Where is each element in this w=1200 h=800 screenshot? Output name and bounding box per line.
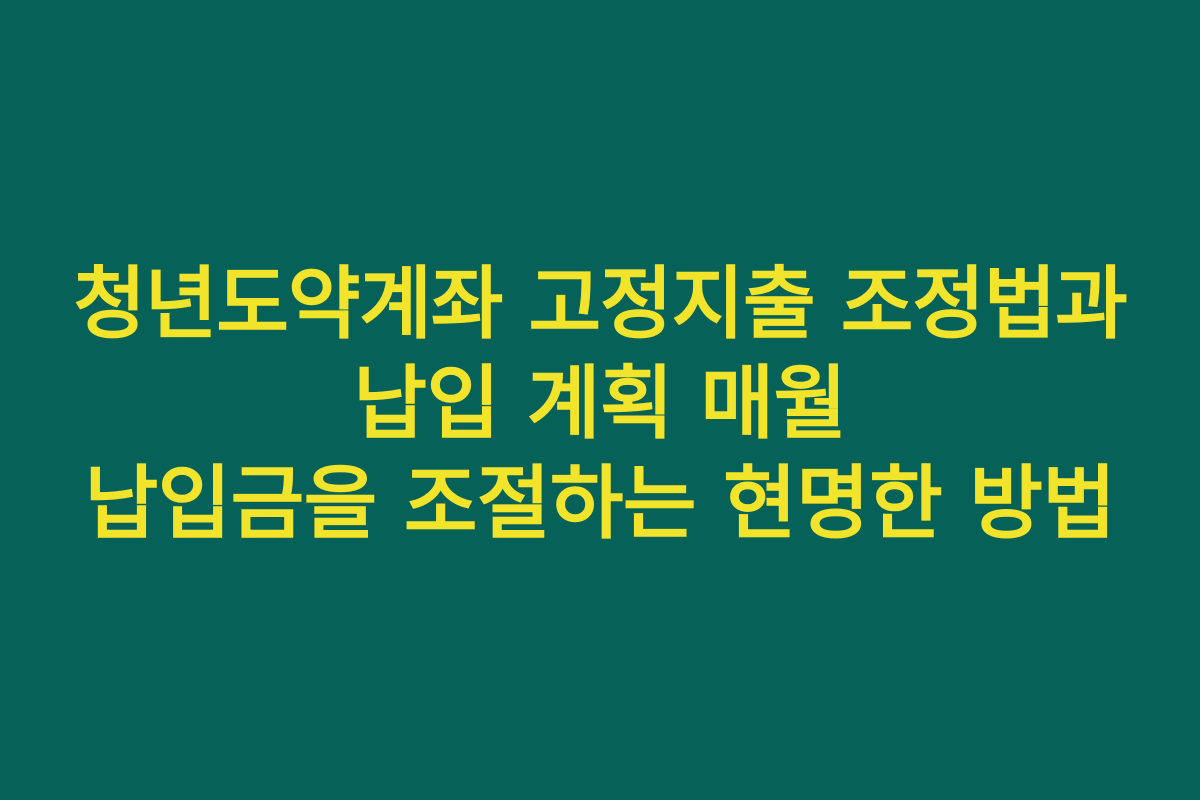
title-line-2: 납입 계획 매월 bbox=[20, 354, 1180, 454]
thumbnail-banner: 청년도약계좌 고정지출 조정법과 납입 계획 매월 납입금을 조절하는 현명한 … bbox=[0, 0, 1200, 800]
title-line-3: 납입금을 조절하는 현명한 방법 bbox=[20, 454, 1180, 554]
title-line-1: 청년도약계좌 고정지출 조정법과 bbox=[20, 254, 1180, 354]
title-block: 청년도약계좌 고정지출 조정법과 납입 계획 매월 납입금을 조절하는 현명한 … bbox=[20, 254, 1180, 554]
